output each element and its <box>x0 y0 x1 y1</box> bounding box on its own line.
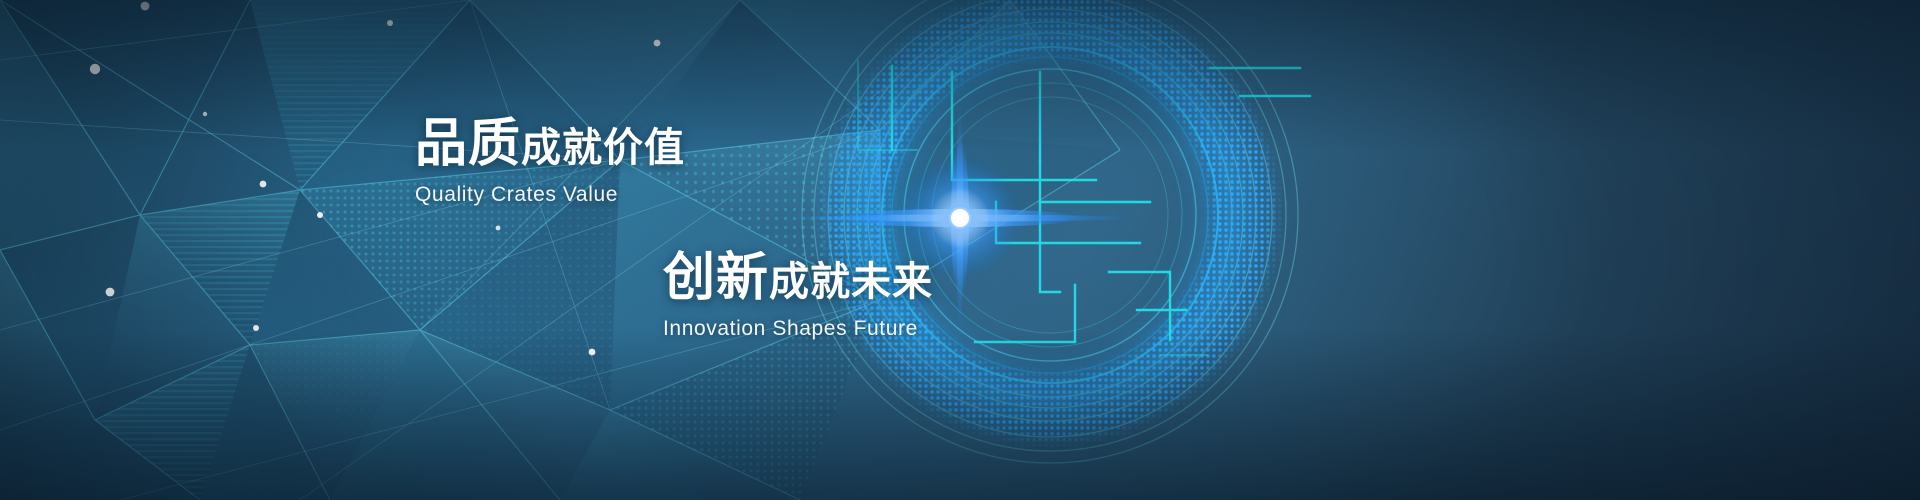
tagline-quality-headline-strong: 品质 <box>415 115 521 173</box>
tagline-innovation-headline: 创新成就未来 <box>663 252 933 304</box>
tagline-innovation: 创新成就未来 Innovation Shapes Future <box>663 252 933 341</box>
tagline-innovation-subtitle: Innovation Shapes Future <box>663 317 933 341</box>
tagline-innovation-headline-light: 成就未来 <box>769 260 933 304</box>
tagline-quality-headline-light: 成就价值 <box>521 126 685 170</box>
tagline-container: 品质成就价值 Quality Crates Value 创新成就未来 Innov… <box>0 0 1920 500</box>
tagline-quality-subtitle: Quality Crates Value <box>415 183 685 207</box>
hero-banner: 品质成就价值 Quality Crates Value 创新成就未来 Innov… <box>0 0 1920 500</box>
tagline-quality-headline: 品质成就价值 <box>415 118 685 170</box>
tagline-quality: 品质成就价值 Quality Crates Value <box>415 118 685 207</box>
tagline-innovation-headline-strong: 创新 <box>663 249 769 307</box>
